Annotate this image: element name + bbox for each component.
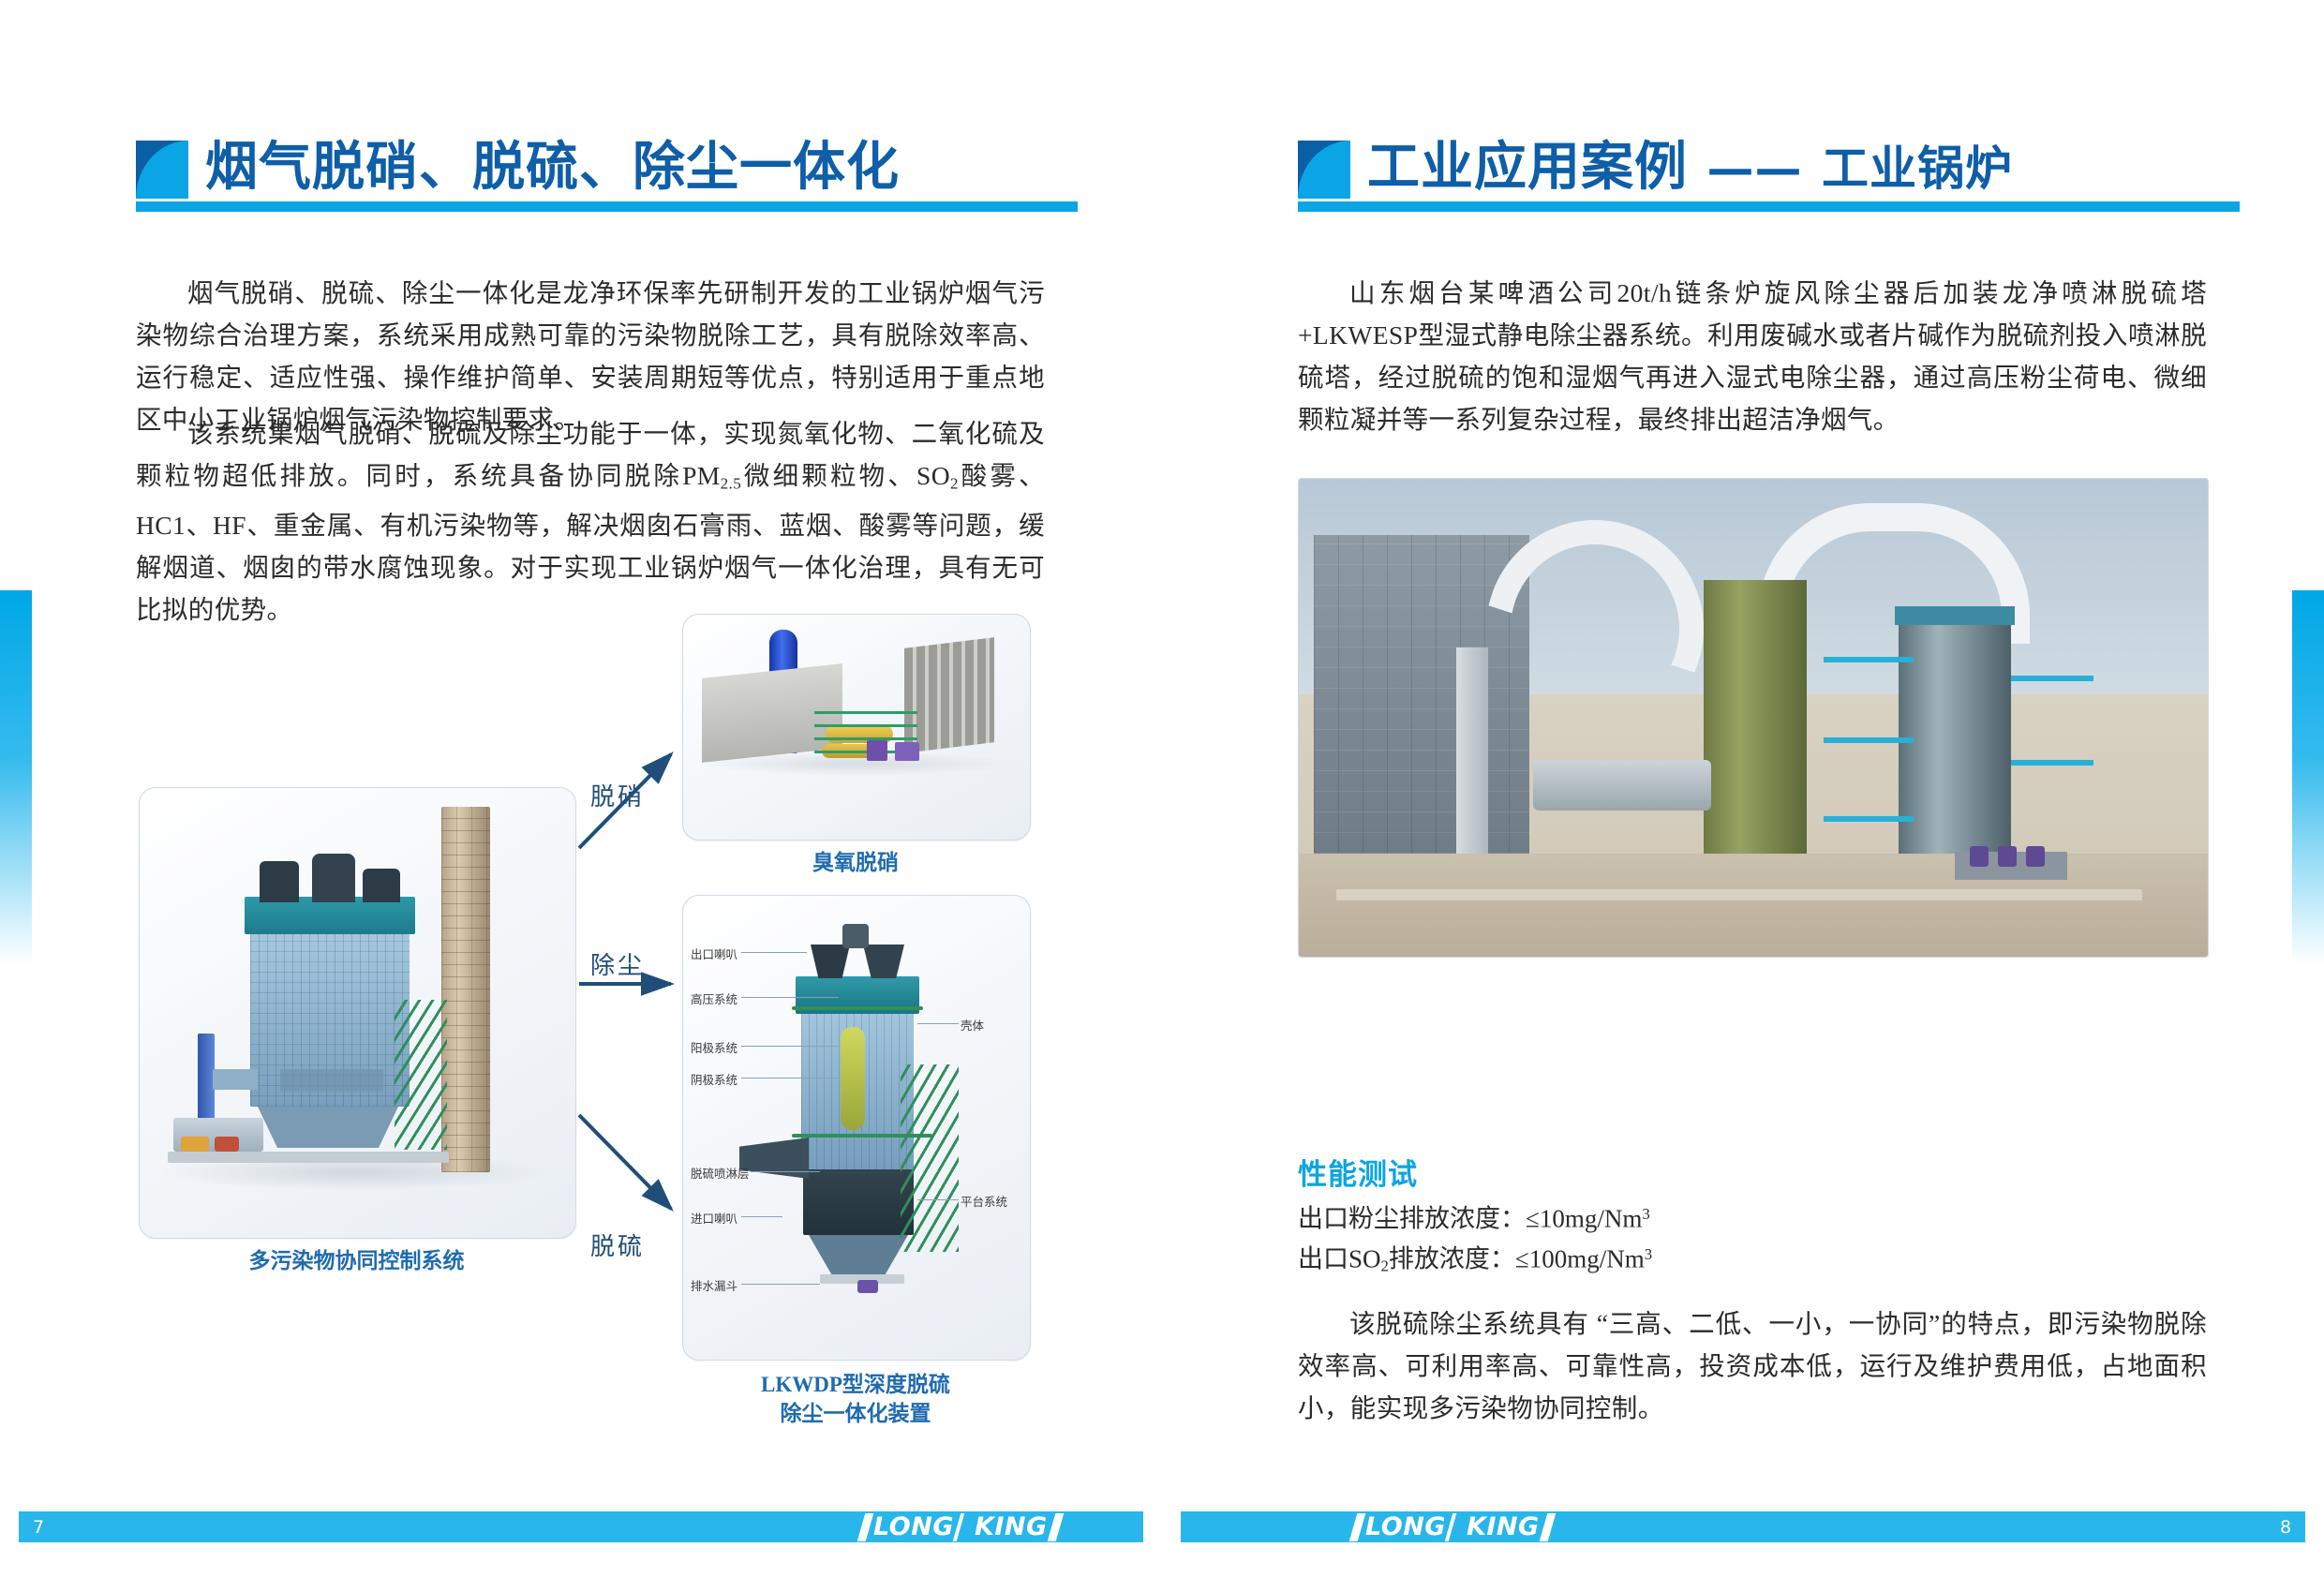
photo-platform-5 <box>2011 760 2093 766</box>
photo-pad-edge <box>1336 889 2142 900</box>
logo-text-long-2: LONG <box>1365 1512 1446 1541</box>
logo-slash-2 <box>1445 1513 1468 1541</box>
photo-pump-3 <box>2026 846 2045 867</box>
logo-text-king-2: KING <box>1467 1512 1540 1541</box>
photo-platform-1 <box>1824 657 1914 662</box>
spec-so2-sup: 3 <box>1645 1245 1652 1263</box>
spec-row-so2: 出口SO2排放浓度：≤100mg/Nm3 <box>1298 1235 1652 1287</box>
spec-so2-label-pre: 出口SO <box>1298 1244 1381 1272</box>
spec-dust-sup: 3 <box>1642 1205 1649 1223</box>
photo-platform-2 <box>1824 737 1914 743</box>
spec-so2-value: ≤100mg/Nm <box>1515 1244 1645 1272</box>
spec-so2-label-post: 排放浓度： <box>1389 1244 1515 1272</box>
logo-bar-2 <box>1047 1513 1064 1541</box>
right-paragraph-1-wrap: 山东烟台某啤酒公司20t/h链条炉旋风除尘器后加装龙净喷淋脱硫塔+LKWESP型… <box>1298 272 2207 440</box>
photo-esp-cap <box>1895 606 2015 625</box>
photo-absorber-tower <box>1704 580 1807 889</box>
spec-dust-value: ≤10mg/Nm <box>1526 1204 1642 1232</box>
flow-label-dedusting: 除尘 <box>590 946 645 981</box>
right-title-dash: —— <box>1707 141 1803 196</box>
spec-row-dust: 出口粉尘排放浓度：≤10mg/Nm3 <box>1298 1195 1650 1238</box>
logo-text-king: KING <box>975 1512 1048 1541</box>
flow-label-denitrification: 脱硝 <box>590 778 645 812</box>
photo-vertical-duct <box>1456 647 1488 863</box>
right-header-underline <box>1298 201 2240 212</box>
right-closing-paragraph: 该脱硫除尘系统具有 “三高、二低、一小，一协同”的特点，即污染物脱除效率高、可利… <box>1298 1302 2207 1429</box>
right-title-sub: 工业锅炉 <box>1822 141 2013 196</box>
photo-platform-4 <box>2011 676 2093 681</box>
logo-bar-1 <box>857 1513 874 1541</box>
right-title-main: 工业应用案例 <box>1367 137 1688 198</box>
logo-bar-3 <box>1349 1513 1366 1541</box>
figure-industrial-plant-photo <box>1298 478 2209 958</box>
header-mark-icon-right <box>1298 141 1350 199</box>
right-closing-paragraph-wrap: 该脱硫除尘系统具有 “三高、二低、一小，一协同”的特点，即污染物脱除效率高、可利… <box>1298 1302 2207 1429</box>
photo-concrete-pad <box>1299 854 2208 957</box>
logo-slash <box>953 1513 976 1541</box>
brochure-spread: 烟气脱硝、脱硫、除尘一体化 烟气脱硝、脱硫、除尘一体化是龙净环保率先研制开发的工… <box>0 0 2324 1577</box>
logo-text-long: LONG <box>873 1512 954 1541</box>
logo-bar-4 <box>1539 1513 1556 1541</box>
left-page-number: 7 <box>17 1512 60 1541</box>
footer-logo-left: LONG KING <box>857 1510 1064 1543</box>
flow-arrows <box>0 0 1162 1577</box>
photo-pump-2 <box>1998 846 2017 867</box>
right-page-number: 8 <box>2264 1512 2307 1541</box>
spec-so2-label-sub: 2 <box>1381 1257 1389 1275</box>
left-page: 烟气脱硝、脱硫、除尘一体化 烟气脱硝、脱硫、除尘一体化是龙净环保率先研制开发的工… <box>0 0 1162 1577</box>
flow-label-desulfurization: 脱硫 <box>590 1227 645 1262</box>
photo-pump-1 <box>1970 846 1989 867</box>
right-page: 工业应用案例 —— 工业锅炉 山东烟台某啤酒公司20t/h链条炉旋风除尘器后加装… <box>1162 0 2324 1577</box>
footer-logo-right: LONG KING <box>1349 1510 1556 1543</box>
spec-dust-label: 出口粉尘排放浓度： <box>1298 1204 1526 1232</box>
right-paragraph-1: 山东烟台某啤酒公司20t/h链条炉旋风除尘器后加装龙净喷淋脱硫塔+LKWESP型… <box>1298 272 2207 440</box>
photo-horizontal-duct <box>1533 760 1711 811</box>
performance-test-title: 性能测试 <box>1298 1151 1418 1193</box>
photo-platform-3 <box>1824 816 1914 822</box>
right-page-title: 工业应用案例 —— 工业锅炉 <box>1367 137 2013 200</box>
